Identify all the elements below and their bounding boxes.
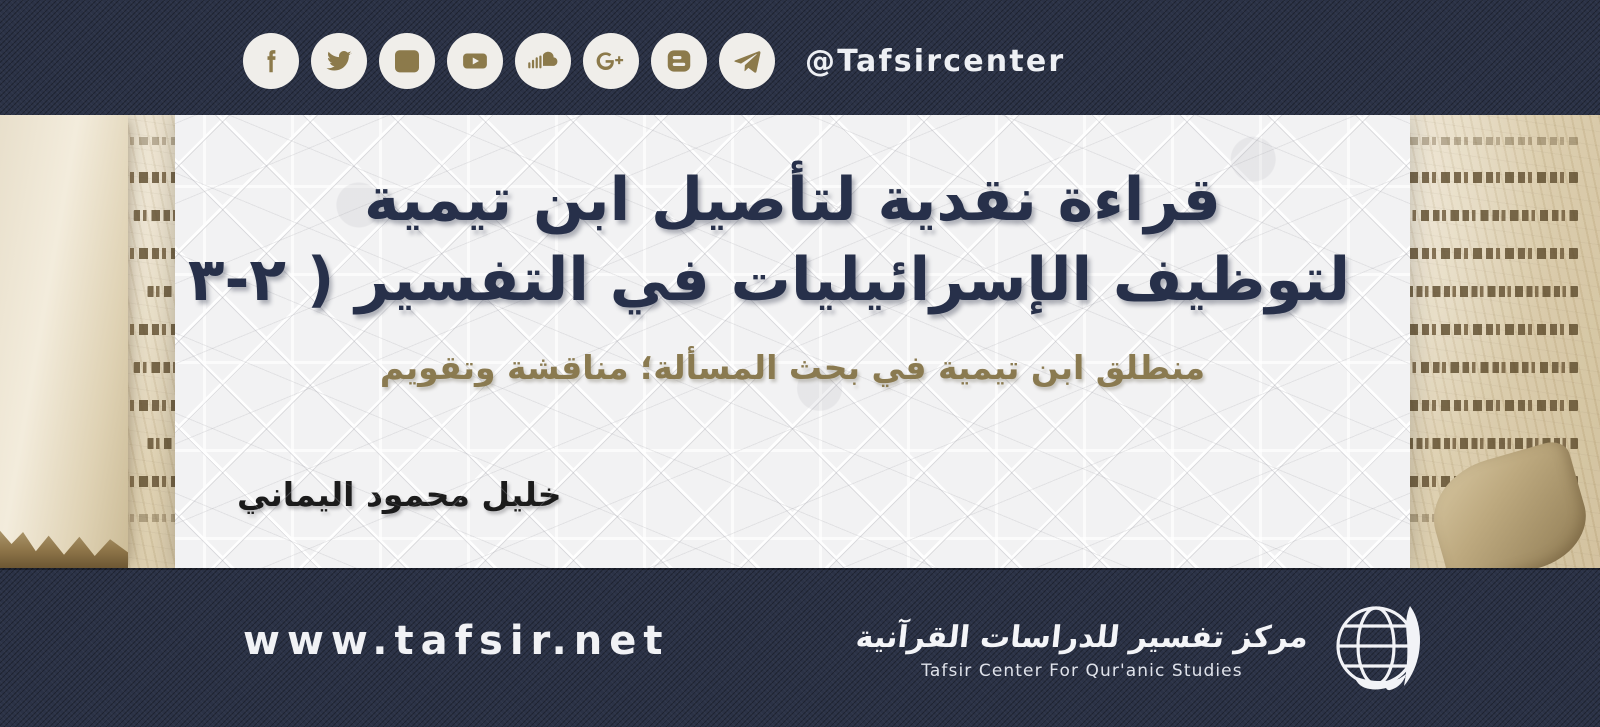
blogger-button[interactable]	[651, 33, 707, 89]
telegram-icon	[732, 46, 762, 76]
youtube-button[interactable]	[447, 33, 503, 89]
twitter-button[interactable]	[311, 33, 367, 89]
bottom-bar: www.tafsir.net مركز تفسير ل	[0, 568, 1600, 727]
brand-name-english: Tafsir Center For Qur'anic Studies	[921, 661, 1242, 681]
brand-name-arabic: مركز تفسير للدراسات القرآنية	[854, 620, 1310, 655]
poster-title-line-2: لتوظيف الإسرائيليات في التفسير ( ٢-٣ )	[235, 241, 1350, 319]
facebook-button[interactable]	[243, 33, 299, 89]
hero-band: قراءة نقدية لتأصيل ابن تيمية لتوظيف الإس…	[0, 115, 1600, 568]
youtube-icon	[460, 46, 490, 76]
google-plus-button[interactable]	[583, 33, 639, 89]
telegram-button[interactable]	[719, 33, 775, 89]
title-panel: قراءة نقدية لتأصيل ابن تيمية لتوظيف الإس…	[175, 115, 1410, 568]
soundcloud-icon	[527, 46, 559, 76]
social-links-row: @Tafsircenter	[243, 33, 1065, 89]
bottom-bar-divider	[0, 568, 1600, 570]
top-bar: @Tafsircenter	[0, 0, 1600, 115]
social-handle: @Tafsircenter	[805, 44, 1065, 79]
twitter-icon	[324, 46, 354, 76]
poster-subtitle: منطلق ابن تيمية في بحث المسألة؛ مناقشة و…	[235, 345, 1350, 391]
scroll-curl-left	[0, 115, 128, 568]
title-panel-content: قراءة نقدية لتأصيل ابن تيمية لتوظيف الإس…	[175, 115, 1410, 568]
instagram-button[interactable]	[379, 33, 435, 89]
poster-root: @Tafsircenter	[0, 0, 1600, 727]
google-plus-icon	[595, 46, 627, 76]
brand-text-block: مركز تفسير للدراسات القرآنية Tafsir Cent…	[856, 620, 1308, 681]
tafsir-globe-logo-icon	[1324, 592, 1432, 709]
blogger-icon	[664, 46, 694, 76]
website-url[interactable]: www.tafsir.net	[243, 618, 669, 664]
poster-title-line-1: قراءة نقدية لتأصيل ابن تيمية	[235, 161, 1350, 239]
facebook-icon	[256, 46, 286, 76]
brand-lockup: مركز تفسير للدراسات القرآنية Tafsir Cent…	[856, 592, 1432, 709]
soundcloud-button[interactable]	[515, 33, 571, 89]
instagram-icon	[392, 46, 422, 76]
